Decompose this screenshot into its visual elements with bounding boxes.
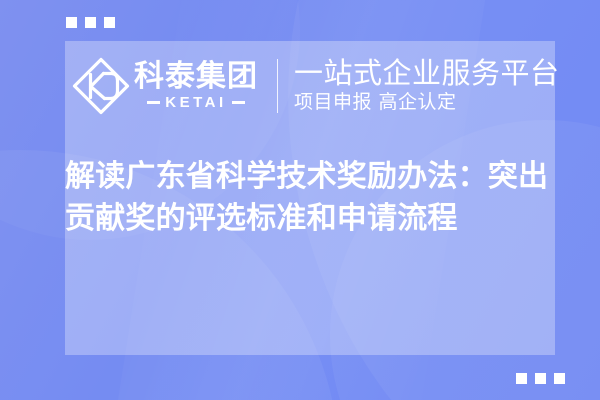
corner-marks-bottom-right	[516, 373, 565, 384]
content-panel: 科泰集团 KETAI 一站式企业服务平台 项目申报 高企认定 解读广东省科学技术…	[65, 41, 555, 355]
square-mark	[554, 373, 565, 384]
square-mark	[66, 17, 77, 28]
slogan-headline: 一站式企业服务平台	[294, 57, 560, 89]
square-mark	[535, 373, 546, 384]
brand-name-en: KETAI	[165, 94, 226, 111]
brand-header: 科泰集团 KETAI 一站式企业服务平台 项目申报 高企认定	[65, 46, 555, 126]
corner-marks-top-left	[66, 17, 115, 28]
ketai-diamond-monogram-icon	[70, 55, 132, 117]
rule-left	[147, 101, 160, 104]
slogan-block: 一站式企业服务平台 项目申报 高企认定	[294, 57, 560, 115]
slogan-subline: 项目申报 高企认定	[294, 91, 560, 115]
square-mark	[516, 373, 527, 384]
vertical-divider	[277, 59, 278, 113]
square-mark	[104, 17, 115, 28]
brand-name-cn: 科泰集团	[134, 61, 258, 93]
brand-wordmark: 科泰集团 KETAI	[134, 61, 258, 111]
square-mark	[85, 17, 96, 28]
brand-name-en-row: KETAI	[147, 94, 244, 111]
promo-banner: 科泰集团 KETAI 一站式企业服务平台 项目申报 高企认定 解读广东省科学技术…	[0, 0, 600, 400]
rule-right	[232, 101, 245, 104]
article-title: 解读广东省科学技术奖励办法：突出贡献奖的评选标准和申请流程	[65, 156, 565, 240]
